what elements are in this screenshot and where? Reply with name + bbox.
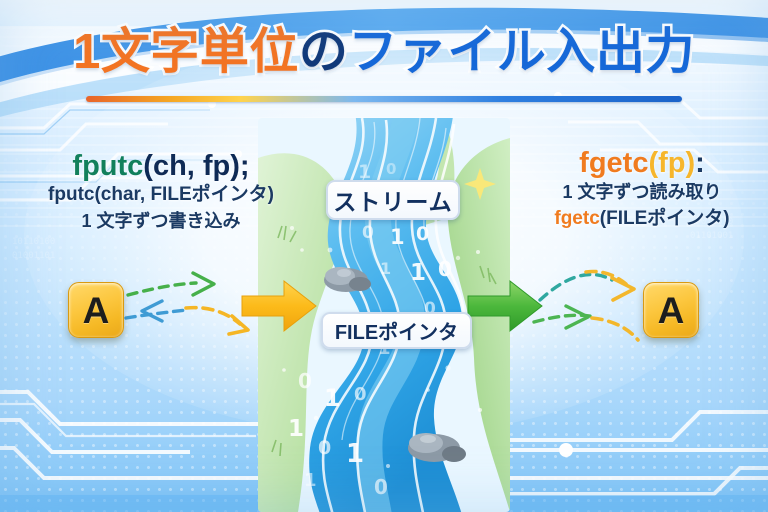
stream-label-text: ストリーム: [333, 183, 452, 217]
fgetc-note: 1 文字ずつ読み取り: [522, 179, 762, 206]
page-title: 1文字単位のファイル入出力: [0, 28, 768, 77]
svg-text:0: 0: [386, 160, 396, 178]
char-tile-left-label: A: [83, 292, 110, 329]
fputc-signature-args: (ch, fp);: [143, 150, 249, 182]
svg-text:0: 0: [362, 223, 374, 243]
fputc-prototype-args: (char, FILEポインタ): [94, 184, 273, 205]
svg-text:1: 1: [390, 225, 405, 249]
fputc-description-block: fputc(ch, fp); fputc(char, FILEポインタ) 1 文…: [16, 150, 306, 235]
svg-text:0: 0: [298, 369, 312, 393]
svg-text:0: 0: [354, 384, 367, 405]
char-tile-right: A: [643, 282, 699, 338]
fputc-prototype-line: fputc(char, FILEポインタ): [16, 182, 306, 208]
svg-text:1: 1: [346, 439, 364, 469]
fgetc-signature-args: (fp): [648, 147, 695, 179]
fgetc-description-block: fgetc(fp): 1 文字ずつ読み取り fgetc(FILEポインタ): [522, 147, 762, 232]
svg-text:0: 0: [416, 223, 429, 245]
slide-canvas: 10110100 01001101 10011010 01101001 1文字単…: [0, 0, 768, 512]
svg-text:1: 1: [288, 416, 304, 442]
fgetc-function-name: fgetc: [579, 147, 648, 179]
title-underline: [86, 96, 682, 102]
sparkle-icon: [462, 166, 498, 202]
fgetc-prototype-line: fgetc(FILEポインタ): [522, 206, 762, 232]
fputc-prototype-name: fputc: [48, 184, 94, 205]
svg-text:0: 0: [438, 257, 452, 281]
fgetc-prototype-name: fgetc: [554, 208, 599, 229]
svg-text:1: 1: [380, 259, 391, 278]
fgetc-prototype-args: (FILEポインタ): [600, 208, 730, 229]
char-tile-left: A: [68, 282, 124, 338]
fgetc-signature-line: fgetc(fp):: [522, 147, 762, 179]
fputc-note: 1 文字ずつ書き込み: [16, 208, 306, 235]
svg-text:0: 0: [374, 475, 388, 499]
fputc-signature-line: fputc(ch, fp);: [16, 150, 306, 182]
read-arrow-icon: [466, 277, 544, 335]
file-pointer-label-chip: FILEポインタ: [321, 312, 472, 349]
svg-text:1: 1: [324, 384, 341, 412]
fputc-function-name: fputc: [72, 150, 143, 182]
title-part-orange: 1文字単位: [73, 25, 299, 79]
title-part-blue: ファイル入出力: [348, 25, 695, 79]
file-pointer-label-text: FILEポインタ: [335, 316, 458, 345]
svg-text:1: 1: [410, 260, 426, 286]
fgetc-signature-tail: :: [695, 147, 705, 179]
title-part-navy: の: [299, 25, 349, 79]
svg-text:1: 1: [304, 470, 317, 491]
svg-text:0: 0: [318, 437, 331, 459]
write-arrow-icon: [240, 277, 318, 335]
char-tile-right-label: A: [658, 292, 685, 329]
stream-label-chip: ストリーム: [326, 180, 460, 220]
